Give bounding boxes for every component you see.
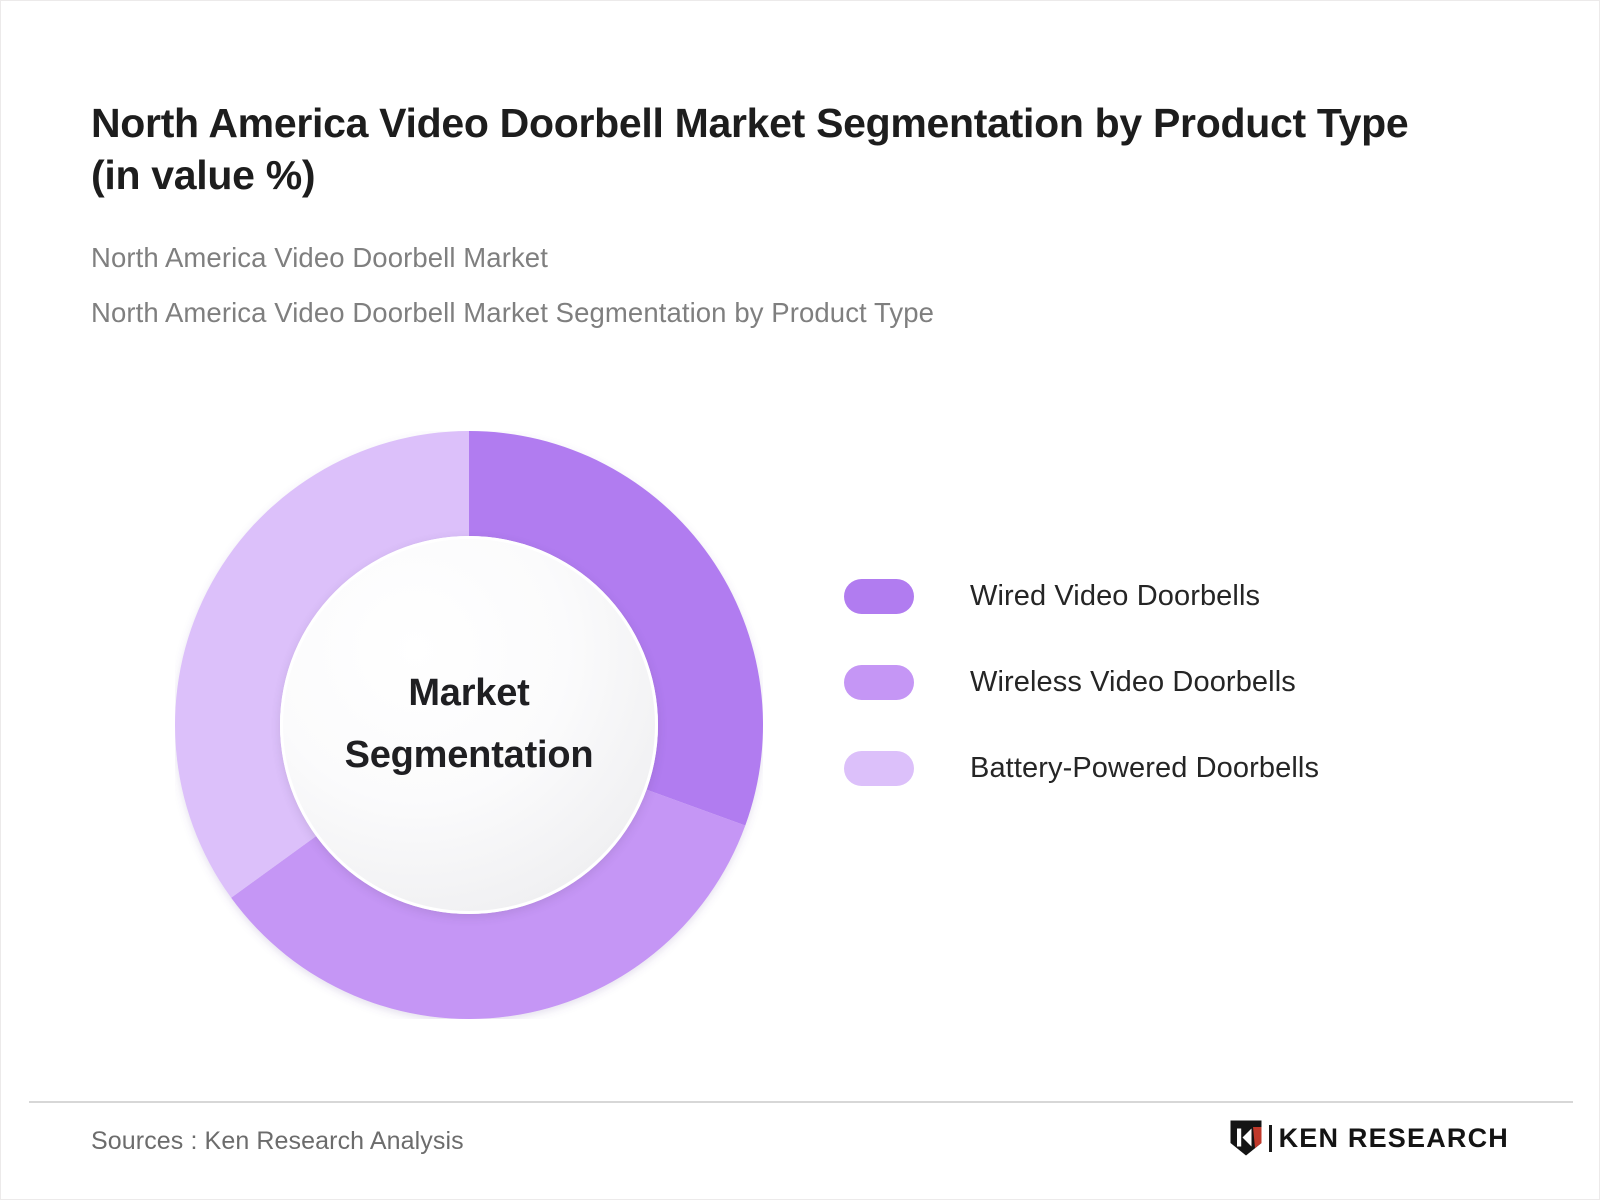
slide-canvas: North America Video Doorbell Market Segm… (0, 0, 1600, 1200)
legend-label-wireless: Wireless Video Doorbells (970, 666, 1296, 699)
legend-swatch-icon-battery (844, 751, 914, 786)
center-label-line-2: Segmentation (345, 734, 594, 776)
donut-slice[interactable] (231, 789, 745, 1019)
chart-legend: Wired Video Doorbells Wireless Video Doo… (844, 553, 1464, 811)
brand-logo: KEN RESEARCH (1229, 1119, 1509, 1157)
brand-divider (1269, 1125, 1272, 1152)
legend-label-wired: Wired Video Doorbells (970, 580, 1260, 613)
legend-label-battery: Battery-Powered Doorbells (970, 752, 1319, 785)
page-title: North America Video Doorbell Market Segm… (91, 97, 1421, 202)
donut-svg (175, 431, 763, 1019)
legend-swatch-icon-wireless (844, 665, 914, 700)
legend-item-wired[interactable]: Wired Video Doorbells (844, 553, 1464, 639)
legend-swatch-icon-wired (844, 579, 914, 614)
center-label: Market Segmentation (345, 663, 594, 786)
brand-name-text: KEN RESEARCH (1279, 1125, 1509, 1152)
source-note: Sources : Ken Research Analysis (91, 1127, 464, 1156)
legend-item-wireless[interactable]: Wireless Video Doorbells (844, 639, 1464, 725)
subtitle-primary: North America Video Doorbell Market (91, 244, 1491, 272)
donut-slice[interactable] (175, 431, 469, 898)
donut-center-hub: Market Segmentation (280, 536, 658, 914)
center-label-line-1: Market (408, 672, 529, 714)
donut-chart: Market Segmentation (175, 431, 763, 1019)
footer-divider (29, 1101, 1573, 1103)
subtitle-secondary: North America Video Doorbell Market Segm… (91, 299, 1491, 327)
donut-slice[interactable] (469, 431, 763, 826)
legend-item-battery[interactable]: Battery-Powered Doorbells (844, 725, 1464, 811)
ken-research-shield-icon (1229, 1119, 1263, 1157)
header: North America Video Doorbell Market Segm… (91, 97, 1491, 327)
